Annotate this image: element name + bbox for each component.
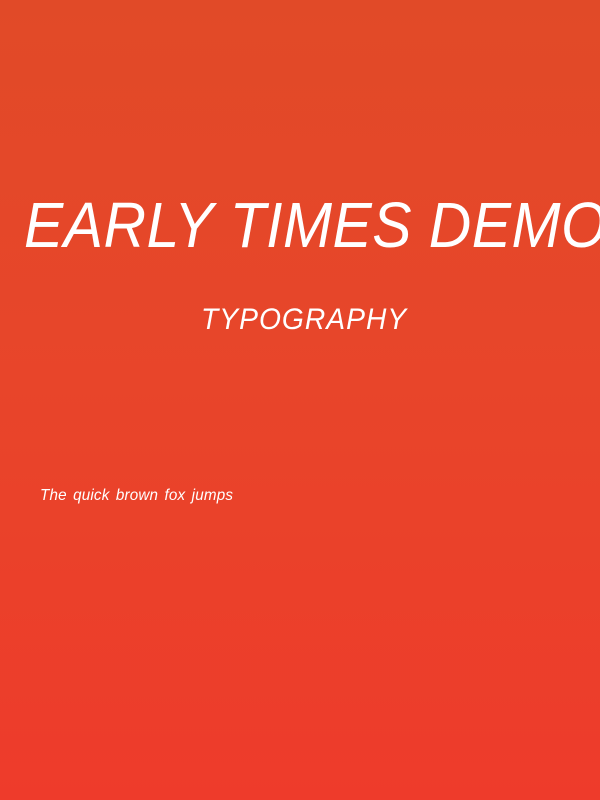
font-category-subtitle: TYPOGRAPHY xyxy=(201,302,407,338)
font-specimen-canvas: EARLY TIMES DEMO ITALIC TYPOGRAPHY The q… xyxy=(0,0,600,800)
font-name-title: EARLY TIMES DEMO ITALIC xyxy=(24,188,600,262)
pangram-sample-text: The quick brown fox jumps xyxy=(40,485,233,507)
